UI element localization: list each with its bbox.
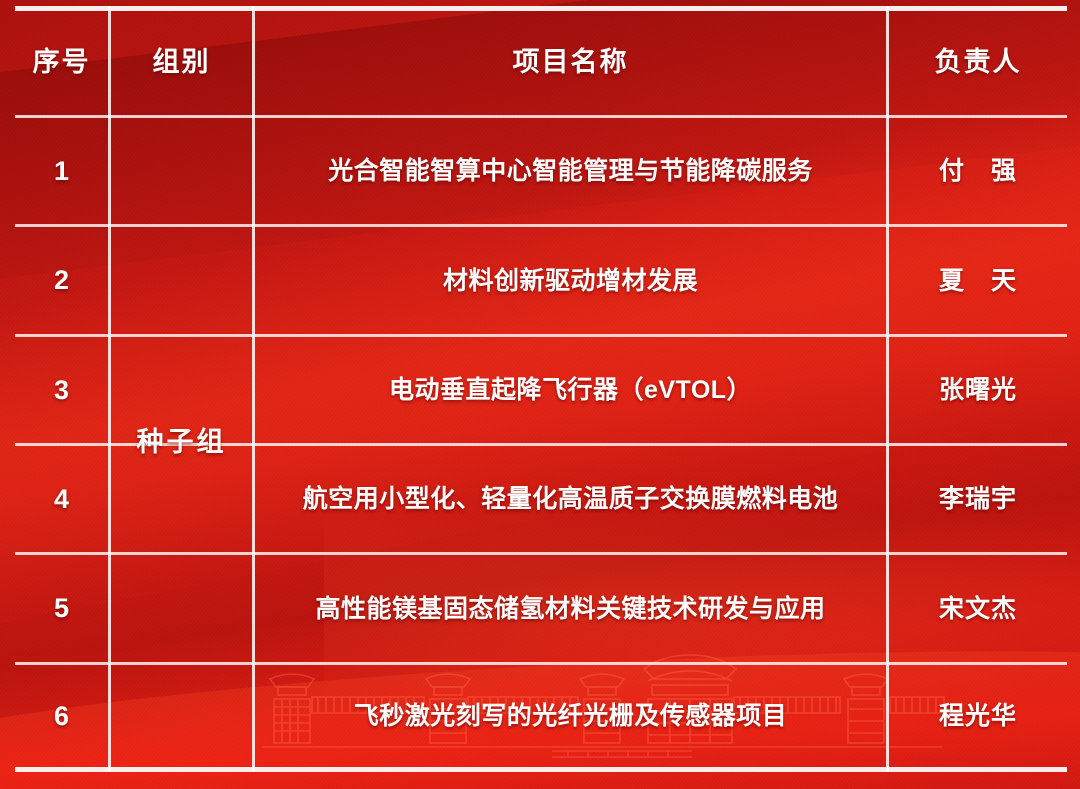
row-index-1: 1 <box>15 118 108 224</box>
slide-canvas: 序号 组别 项目名称 负责人 种子组 1 光合智能智算中心智能管理与节能降碳服务… <box>0 0 1080 789</box>
header-index: 序号 <box>15 10 108 115</box>
table-bottom-border <box>15 767 1067 772</box>
row-index-4: 4 <box>15 446 108 552</box>
row-leader-6: 程光华 <box>889 665 1067 767</box>
row-index-3: 3 <box>15 337 108 443</box>
header-leader: 负责人 <box>889 10 1067 115</box>
header-project: 项目名称 <box>255 10 886 115</box>
row-index-6: 6 <box>15 665 108 767</box>
projects-table: 序号 组别 项目名称 负责人 种子组 1 光合智能智算中心智能管理与节能降碳服务… <box>15 6 1067 772</box>
row-project-3: 电动垂直起降飞行器（eVTOL） <box>255 337 886 443</box>
group-cell-seed: 种子组 <box>111 118 252 767</box>
row-project-2: 材料创新驱动增材发展 <box>255 227 886 334</box>
header-group: 组别 <box>111 10 252 115</box>
row-index-5: 5 <box>15 555 108 662</box>
row-index-2: 2 <box>15 227 108 334</box>
row-leader-3: 张曙光 <box>889 337 1067 443</box>
row-leader-2: 夏 天 <box>889 227 1067 334</box>
row-leader-4: 李瑞宇 <box>889 446 1067 552</box>
row-project-5: 高性能镁基固态储氢材料关键技术研发与应用 <box>255 555 886 662</box>
row-project-4: 航空用小型化、轻量化高温质子交换膜燃料电池 <box>255 446 886 552</box>
row-leader-1: 付 强 <box>889 118 1067 224</box>
row-leader-5: 宋文杰 <box>889 555 1067 662</box>
row-project-6: 飞秒激光刻写的光纤光栅及传感器项目 <box>255 665 886 767</box>
row-project-1: 光合智能智算中心智能管理与节能降碳服务 <box>255 118 886 224</box>
